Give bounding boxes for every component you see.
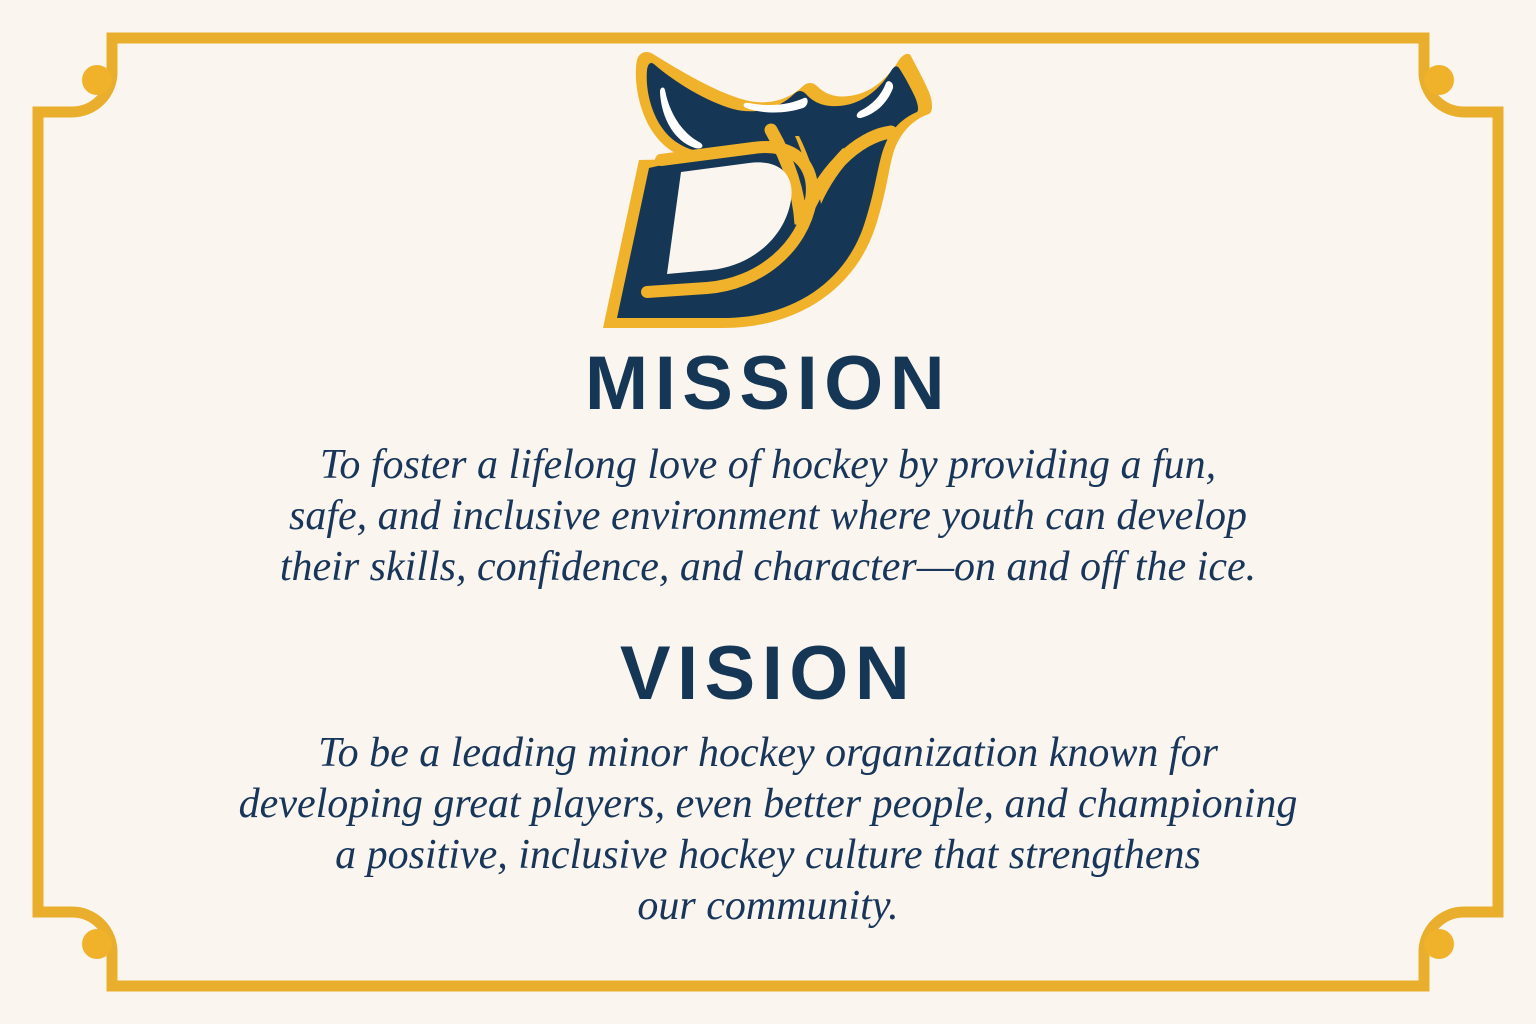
- vision-line-3: a positive, inclusive hockey culture tha…: [123, 830, 1413, 881]
- mission-vision-poster: MISSION To foster a lifelong love of hoc…: [0, 0, 1536, 1024]
- vision-line-1: To be a leading minor hockey organizatio…: [123, 728, 1413, 779]
- poster-content: MISSION To foster a lifelong love of hoc…: [0, 0, 1536, 1024]
- mission-body: To foster a lifelong love of hockey by p…: [153, 440, 1383, 594]
- mission-line-1: To foster a lifelong love of hockey by p…: [153, 440, 1383, 491]
- mission-line-3: their skills, confidence, and character—…: [153, 542, 1383, 593]
- mission-heading: MISSION: [585, 346, 951, 422]
- vision-line-2: developing great players, even better pe…: [123, 779, 1413, 830]
- team-logo-dv-whale-tail-icon: [603, 52, 933, 330]
- vision-line-4: our community.: [123, 881, 1413, 932]
- vision-heading: VISION: [620, 636, 916, 712]
- vision-body: To be a leading minor hockey organizatio…: [123, 728, 1413, 933]
- team-logo: [603, 52, 933, 330]
- mission-line-2: safe, and inclusive environment where yo…: [153, 491, 1383, 542]
